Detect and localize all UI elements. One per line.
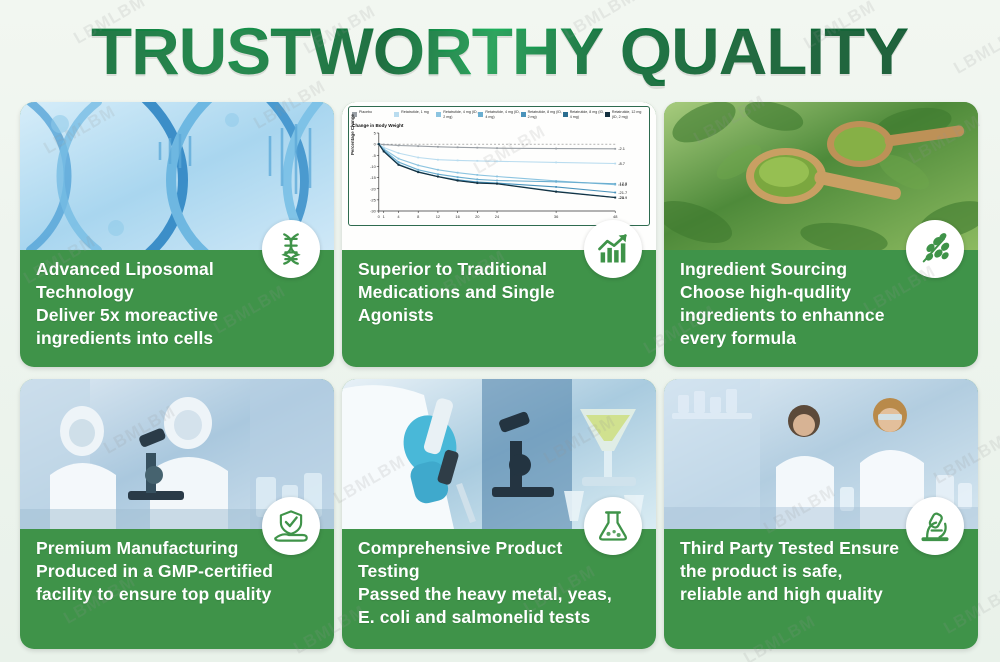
card-line-3: Deliver 5x moreactive [36,304,320,327]
svg-text:24: 24 [495,214,500,219]
svg-text:4: 4 [397,214,400,219]
svg-text:20: 20 [475,214,480,219]
legend-item: Retatrutide, 4 mg (ID, 4 mg) [478,110,520,119]
legend-item: Retatrutide, 8 mg (ID, 2 mg) [521,110,563,119]
card-line-4: E. coli and salmonelid tests [358,606,642,629]
page-header: TRUSTWORTHY QUALITY [0,16,1000,88]
card-line-3: Passed the heavy metal, yeas, [358,583,642,606]
feature-card-third-party-tested[interactable]: Third Party Tested Ensure the product is… [664,379,978,649]
flask-icon-badge [584,497,642,555]
growth-chart-icon [595,231,631,267]
page-title: TRUSTWORTHY QUALITY [91,16,908,86]
feature-card-grid: Advanced Liposomal Technology Deliver 5x… [20,102,980,649]
svg-text:-2.1: -2.1 [618,146,626,151]
legend-swatch [521,112,526,117]
svg-text:48: 48 [613,214,618,219]
svg-text:-25: -25 [370,198,377,203]
svg-text:-17.8: -17.8 [618,181,628,186]
svg-text:0: 0 [374,142,377,147]
svg-text:5: 5 [374,131,377,136]
svg-text:-15: -15 [370,175,377,180]
svg-text:8: 8 [417,214,420,219]
legend-label: Retatrutide, 4 mg (ID, 4 mg) [485,110,520,119]
microscope-icon [917,508,953,544]
chart-legend: Placebo Retatrutide, 1 mg Retatrutide, 4… [348,106,650,121]
svg-text:-5: -5 [372,153,376,158]
leaf-branch-icon-badge [906,220,964,278]
card-line-4: ingredients into cells [36,327,320,350]
legend-item: Retatrutide, 4 mg (ID, 2 mg) [436,110,478,119]
card-line-2: Produced in a GMP-certified [36,560,320,583]
microscope-icon-badge [906,497,964,555]
legend-swatch [478,112,483,117]
legend-label: Retatrutide, 8 mg (ID, 4 mg) [570,110,605,119]
card-line-2: the product is safe, [680,560,964,583]
legend-label: Retatrutide, 1 mg [401,110,429,115]
feature-card-advanced-liposomal-technology[interactable]: Advanced Liposomal Technology Deliver 5x… [20,102,334,367]
legend-swatch [563,112,568,117]
feature-card-premium-manufacturing[interactable]: Premium Manufacturing Produced in a GMP-… [20,379,334,649]
card-line-2: Choose high-qudlity [680,281,964,304]
hand-shield-check-icon [273,508,309,544]
svg-text:36: 36 [554,214,559,219]
card-line-2: Medications and Single [358,281,642,304]
card-line-2: Technology [36,281,320,304]
chart-lines: 50-5-10-15-20-25-300148121620243648-2.1-… [349,121,649,225]
legend-label: Placebo [359,110,372,115]
legend-swatch [436,112,441,117]
svg-text:16: 16 [455,214,460,219]
svg-text:0: 0 [378,214,381,219]
legend-item: Retatrutide, 12 mg (ID, 2 mg) [605,110,647,119]
card-line-4: every formula [680,327,964,350]
svg-text:-8.7: -8.7 [618,161,625,166]
legend-swatch [605,112,610,117]
card-line-3: facility to ensure top quality [36,583,320,606]
leaf-branch-icon [917,231,953,267]
card-line-2: Testing [358,560,642,583]
feature-card-comprehensive-product-testing[interactable]: Comprehensive Product Testing Passed the… [342,379,656,649]
legend-swatch [394,112,399,117]
svg-text:12: 12 [436,214,440,219]
svg-text:-24: -24 [618,195,625,200]
card-line-3: reliable and high quality [680,583,964,606]
legend-item: Placebo [352,110,394,119]
feature-card-ingredient-sourcing[interactable]: Ingredient Sourcing Choose high-qudlity … [664,102,978,367]
legend-label: Retatrutide, 4 mg (ID, 2 mg) [443,110,478,119]
feature-card-superior-to-traditional-medications[interactable]: Placebo Retatrutide, 1 mg Retatrutide, 4… [342,102,656,367]
legend-item: Retatrutide, 8 mg (ID, 4 mg) [563,110,605,119]
legend-item: Retatrutide, 1 mg [394,110,436,119]
chart-plot-area: Change in Body Weight Percentage Change … [348,121,650,226]
svg-text:-20: -20 [370,186,377,191]
card-line-3: ingredients to enhannce [680,304,964,327]
svg-text:1: 1 [383,214,386,219]
hand-shield-check-icon-badge [262,497,320,555]
dna-icon-badge [262,220,320,278]
svg-text:-10: -10 [370,164,377,169]
card-line-3: Agonists [358,304,642,327]
legend-label: Retatrutide, 8 mg (ID, 2 mg) [528,110,563,119]
legend-label: Retatrutide, 12 mg (ID, 2 mg) [612,110,647,119]
svg-text:-30: -30 [370,209,377,214]
growth-chart-icon-badge [584,220,642,278]
dna-icon [273,231,309,267]
flask-icon [595,508,631,544]
